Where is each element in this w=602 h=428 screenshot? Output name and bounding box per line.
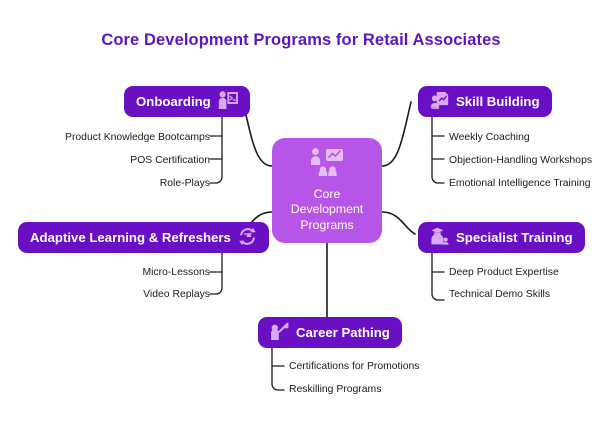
branch-label-specialist-training: Specialist Training	[456, 231, 573, 244]
sub-item-adaptive-0: Micro-Lessons	[142, 268, 210, 278]
spine-onboarding	[210, 117, 222, 183]
sub-item-onboarding-0: Product Knowledge Bootcamps	[65, 133, 210, 143]
branch-node-skill-building[interactable]: Skill Building	[418, 86, 552, 117]
spine-skill	[432, 117, 444, 183]
person-growth-arrow-icon	[270, 322, 289, 343]
sub-item-career-0: Certifications for Promotions	[289, 362, 420, 372]
branch-label-onboarding: Onboarding	[136, 95, 211, 108]
sub-item-onboarding-1: POS Certification	[130, 156, 210, 166]
center-label-line-1: Core	[314, 187, 341, 201]
center-label-line-3: Programs	[300, 218, 353, 232]
page-title: Core Development Programs for Retail Ass…	[0, 31, 602, 50]
branch-node-adaptive-learning[interactable]: Adaptive Learning & Refreshers	[18, 222, 269, 253]
person-screen-icon	[218, 91, 238, 112]
spine-adaptive	[210, 253, 222, 294]
center-node-label: Core Development Programs	[291, 187, 363, 233]
mindmap-diagram: Core Development Programs for Retail Ass…	[0, 0, 602, 428]
sub-item-career-1: Reskilling Programs	[289, 385, 381, 395]
wire-center-skill	[382, 102, 411, 166]
center-node[interactable]: Core Development Programs	[272, 138, 382, 243]
sub-item-onboarding-2: Role-Plays	[160, 179, 210, 189]
center-label-line-2: Development	[291, 202, 363, 216]
sub-item-skill-2: Emotional Intelligence Training	[449, 179, 591, 189]
sub-item-specialist-0: Deep Product Expertise	[449, 268, 559, 278]
wire-center-specialist	[382, 212, 415, 234]
refresh-cycle-icon	[238, 227, 257, 249]
branch-label-career-pathing: Career Pathing	[296, 326, 390, 339]
sub-item-specialist-1: Technical Demo Skills	[449, 290, 550, 300]
branch-label-skill-building: Skill Building	[456, 95, 540, 108]
graduate-person-icon	[430, 227, 449, 248]
spine-specialist	[432, 253, 444, 300]
person-chart-document-icon	[430, 91, 449, 112]
branch-node-career-pathing[interactable]: Career Pathing	[258, 317, 402, 348]
sub-item-skill-1: Objection-Handling Workshops	[449, 156, 592, 166]
sub-item-adaptive-1: Video Replays	[143, 290, 210, 300]
presentation-training-icon	[310, 148, 344, 181]
branch-node-specialist-training[interactable]: Specialist Training	[418, 222, 585, 253]
branch-node-onboarding[interactable]: Onboarding	[124, 86, 250, 117]
spine-career	[272, 348, 284, 390]
branch-label-adaptive-learning: Adaptive Learning & Refreshers	[30, 231, 231, 244]
sub-item-skill-0: Weekly Coaching	[449, 133, 530, 143]
